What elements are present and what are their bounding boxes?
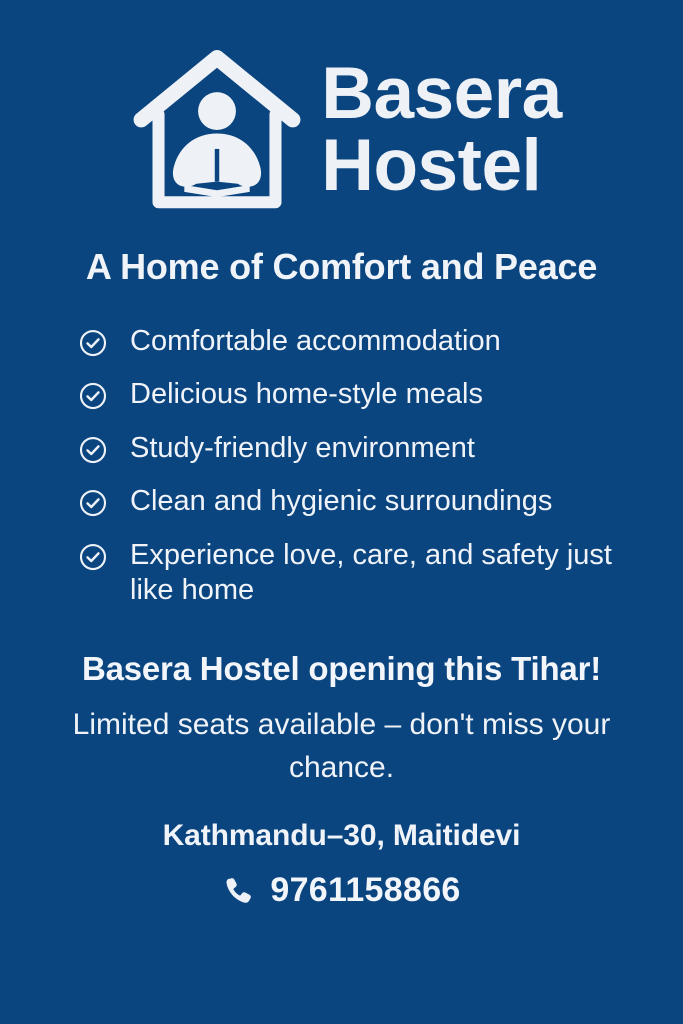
address-text: Kathmandu–30, Maitidevi (163, 819, 521, 853)
list-item: Delicious home-style meals (78, 377, 683, 412)
feature-label: Study-friendly environment (130, 431, 475, 466)
list-item: Comfortable accommodation (78, 324, 683, 359)
phone-contact[interactable]: 9761158866 (222, 871, 460, 910)
check-circle-icon (78, 488, 108, 518)
phone-icon (222, 875, 254, 907)
brand-line-2: Hostel (321, 130, 562, 202)
feature-label: Comfortable accommodation (130, 324, 501, 359)
feature-label: Clean and hygienic surroundings (130, 484, 552, 519)
list-item: Clean and hygienic surroundings (78, 484, 683, 519)
house-with-reader-icon (131, 44, 303, 216)
list-item: Experience love, care, and safety just l… (78, 538, 683, 609)
feature-label: Experience love, care, and safety just l… (130, 538, 620, 609)
brand-line-1: Basera (321, 58, 562, 130)
feature-label: Delicious home-style meals (130, 377, 483, 412)
check-circle-icon (78, 435, 108, 465)
announcement-subtext: Limited seats available – don't miss you… (72, 704, 612, 789)
poster-root: Basera Hostel A Home of Comfort and Peac… (0, 0, 683, 1024)
check-circle-icon (78, 542, 108, 572)
check-circle-icon (78, 381, 108, 411)
tagline: A Home of Comfort and Peace (86, 246, 597, 288)
phone-number: 9761158866 (270, 871, 460, 910)
check-circle-icon (78, 328, 108, 358)
list-item: Study-friendly environment (78, 431, 683, 466)
brand-wordmark: Basera Hostel (321, 58, 562, 201)
feature-list: Comfortable accommodation Delicious home… (0, 324, 683, 626)
brand-header: Basera Hostel (0, 44, 683, 216)
announcement-headline: Basera Hostel opening this Tihar! (82, 650, 601, 688)
